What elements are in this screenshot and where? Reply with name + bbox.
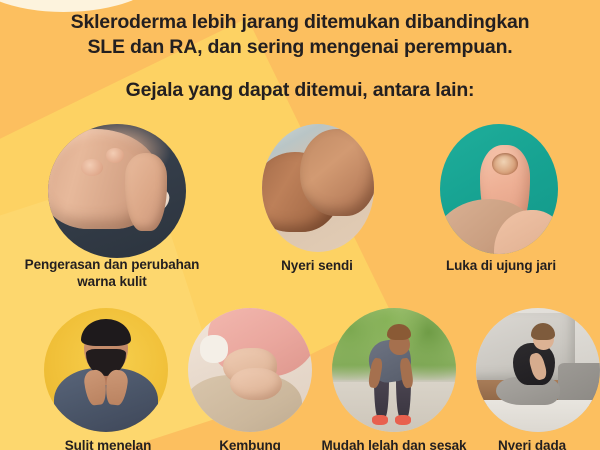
fingertip-ulcer-image — [440, 124, 558, 254]
ulcer-wound-detail — [492, 153, 518, 175]
knuckle-lesion-mark — [81, 159, 103, 176]
man-touching-throat-image — [44, 308, 168, 432]
caption-fingertip-ulcer: Luka di ujung jari — [412, 257, 590, 274]
fingertip-ulcer-photo — [440, 124, 558, 254]
hand-skin-hardening-photo — [48, 124, 186, 258]
fingernail-detail — [146, 187, 172, 213]
right-shoe-detail — [395, 415, 411, 425]
lower-hand-detail — [230, 368, 282, 400]
caption-chest-pain: Nyeri dada — [462, 437, 600, 450]
headline-line-2: SLE dan RA, dan sering mengenai perempua… — [0, 35, 600, 60]
heading-block: Skleroderma lebih jarang ditemukan diban… — [0, 10, 600, 103]
ottoman-detail — [558, 363, 600, 405]
woman-out-of-breath-image — [332, 308, 456, 432]
sleeve-detail — [200, 335, 227, 362]
left-shoe-detail — [372, 415, 388, 425]
hair-detail — [81, 319, 131, 346]
woman-out-of-breath-photo — [332, 308, 456, 432]
caption-fatigue-shortness-of-breath: Mudah lelah dan sesak — [318, 437, 470, 450]
hair-bun-detail — [387, 324, 412, 340]
headline-line-1: Skleroderma lebih jarang ditemukan diban… — [0, 10, 600, 35]
caption-skin-hardening: Pengerasan dan perubahan warna kulit — [16, 256, 208, 290]
finger-detail-3 — [349, 169, 374, 215]
hands-on-abdomen-image — [188, 308, 312, 432]
caption-bloating: Kembung — [174, 437, 326, 450]
path-background — [332, 382, 456, 432]
caption-joint-pain: Nyeri sendi — [242, 257, 392, 274]
elderly-hands-joint-pain-photo — [262, 124, 374, 252]
finger-detail-1 — [326, 156, 346, 201]
subheadline: Gejala yang dapat ditemui, antara lain: — [0, 78, 600, 103]
infographic-poster: Skleroderma lebih jarang ditemukan diban… — [0, 0, 600, 450]
woman-chest-pain-image — [476, 308, 600, 432]
hand-skin-hardening-image — [48, 124, 186, 258]
elderly-hands-joint-pain-image — [262, 124, 374, 252]
hands-on-abdomen-photo — [188, 308, 312, 432]
finger-detail-2 — [338, 161, 363, 207]
man-touching-throat-photo — [44, 308, 168, 432]
woman-chest-pain-photo — [476, 308, 600, 432]
knuckle-lesion-mark-secondary — [106, 148, 124, 163]
